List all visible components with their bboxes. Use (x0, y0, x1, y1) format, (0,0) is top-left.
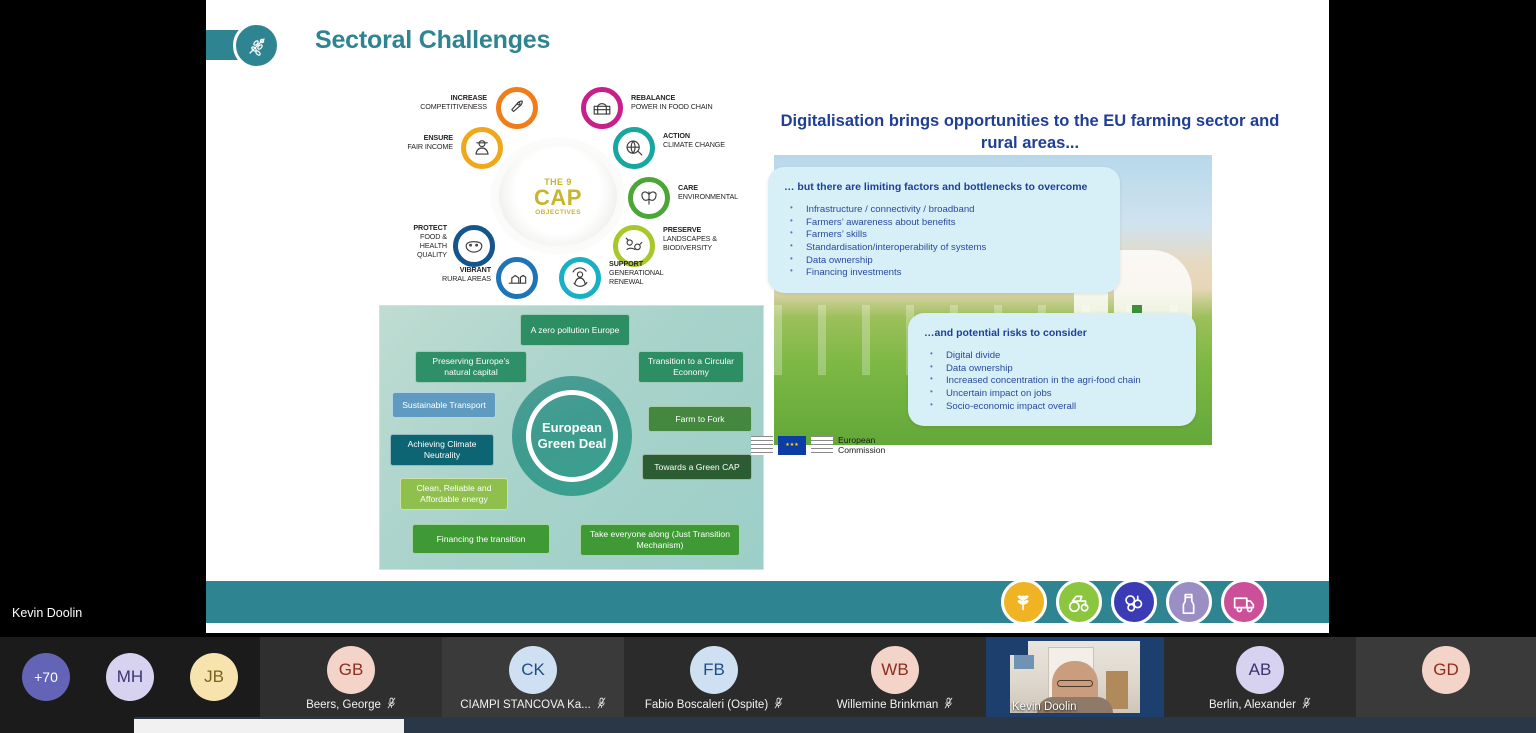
participant-strip[interactable]: +70MHJBGBBeers, GeorgeCKCIAMPI STANCOVA … (0, 637, 1536, 717)
page-title: Sectoral Challenges (315, 26, 550, 55)
participant-tile[interactable]: GD (1356, 637, 1536, 717)
green-deal-box: Clean, Reliable and Affordable energy (400, 478, 508, 510)
green-deal-box: Achieving Climate Neutrality (390, 434, 494, 466)
logo-lines-left (751, 436, 773, 455)
wheat-sheaf-icon (233, 22, 280, 69)
cap-label-bees: PRESERVELANDSCAPES & BIODIVERSITY (663, 225, 729, 252)
european-commission-logo: European Commission (751, 435, 885, 456)
cap-center-line3: OBJECTIVES (535, 209, 581, 216)
mic-muted-icon (1302, 697, 1311, 712)
ec-logo-line2: Commission (838, 445, 885, 455)
bottleneck-item: Data ownership (784, 255, 1104, 268)
meeting-stage: Sectoral Challenges THE 9 CAP OBJECTIVES… (0, 0, 1536, 637)
cap-label-village: VIBRANTRURAL AREAS (429, 265, 491, 283)
cap-center-line2: CAP (534, 187, 582, 209)
slide-header: Sectoral Challenges (206, 22, 1329, 64)
cap-label-rocket: INCREASECOMPETITIVENESS (409, 93, 487, 111)
mic-muted-icon (597, 697, 606, 712)
green-deal-box: Transition to a Circular Economy (638, 351, 744, 383)
tractor-icon (1056, 579, 1102, 625)
avatar[interactable]: +70 (22, 653, 70, 701)
dairy-icon (1166, 579, 1212, 625)
avatar[interactable]: GD (1422, 646, 1470, 694)
participant-name-row: Beers, George (260, 697, 442, 712)
cap-wheel-center: THE 9 CAP OBJECTIVES (499, 146, 617, 246)
avatar[interactable]: MH (106, 653, 154, 701)
participant-tile[interactable]: ABBerlin, Alexander (1164, 637, 1356, 717)
green-deal-box: Farm to Fork (648, 406, 752, 432)
cap-node-cow-icon (453, 225, 495, 267)
risk-item: Data ownership (924, 363, 1180, 376)
participant-video-tile[interactable]: Kevin Doolin (986, 637, 1164, 717)
participant-name: Willemine Brinkman (837, 699, 939, 711)
european-green-deal-diagram: European Green Deal A zero pollution Eur… (379, 305, 764, 570)
participant-name-row: Willemine Brinkman (804, 697, 986, 712)
logo-lines-right (811, 436, 833, 455)
callout-bottlenecks: … but there are limiting factors and bot… (768, 167, 1120, 293)
cap-label-renewal: SUPPORTGENERATIONAL RENEWAL (609, 259, 679, 286)
cap-node-renewal-icon (559, 257, 601, 299)
digitalisation-panel: Digitalisation brings opportunities to t… (768, 105, 1292, 475)
cap-label-globe: ACTIONCLIMATE CHANGE (663, 131, 729, 149)
cap-node-crate-icon (581, 87, 623, 129)
participant-tile[interactable]: FBFabio Boscaleri (Ospite) (624, 637, 804, 717)
cap-label-farmer: ENSUREFAIR INCOME (391, 133, 453, 151)
callout-bottlenecks-list: Infrastructure / connectivity / broadban… (784, 204, 1104, 280)
green-deal-box: Towards a Green CAP (642, 454, 752, 480)
eu-flag-icon (778, 436, 806, 455)
taskbar-start-area[interactable] (0, 717, 134, 733)
green-deal-box: Take everyone along (Just Transition Mec… (580, 524, 740, 556)
callout-bottlenecks-heading: … but there are limiting factors and bot… (784, 180, 1104, 194)
participant-name-row: Fabio Boscaleri (Ospite) (624, 697, 804, 712)
ec-logo-line1: European (838, 435, 885, 445)
risk-item: Socio-economic impact overall (924, 401, 1180, 414)
video-overlay-badge (988, 639, 1028, 655)
ec-logo-text: European Commission (838, 435, 885, 456)
mic-muted-icon (774, 697, 783, 712)
taskbar-window-preview[interactable] (134, 719, 404, 733)
cap-node-farmer-icon (461, 127, 503, 169)
avatar[interactable]: GB (327, 646, 375, 694)
mic-muted-icon (387, 697, 396, 712)
participant-name: Kevin Doolin (1012, 701, 1077, 713)
participant-tile[interactable]: CKCIAMPI STANCOVA Ka... (442, 637, 624, 717)
cap-label-cow: PROTECTFOOD & HEALTH QUALITY (391, 223, 447, 259)
screen: Sectoral Challenges THE 9 CAP OBJECTIVES… (0, 0, 1536, 733)
risk-item: Increased concentration in the agri-food… (924, 375, 1180, 388)
callout-risks-list: Digital divideData ownershipIncreased co… (924, 350, 1180, 413)
risk-item: Uncertain impact on jobs (924, 388, 1180, 401)
green-deal-box: A zero pollution Europe (520, 314, 630, 346)
cap-node-rocket-icon (496, 87, 538, 129)
logistics-truck-icon (1221, 579, 1267, 625)
green-deal-box: Preserving Europe’s natural capital (415, 351, 527, 383)
slide-footer (206, 581, 1329, 623)
participant-tile[interactable]: WBWillemine Brinkman (804, 637, 986, 717)
fruit-vegetables-icon (1111, 579, 1157, 625)
taskbar[interactable] (0, 717, 1536, 733)
active-speaker-name: Kevin Doolin (12, 606, 82, 620)
cap-objectives-wheel: THE 9 CAP OBJECTIVES INCREASECOMPETITIVE… (391, 85, 731, 305)
callout-risks-heading: …and potential risks to consider (924, 326, 1180, 340)
participant-tile[interactable]: GBBeers, George (260, 637, 442, 717)
participant-name: CIAMPI STANCOVA Ka... (460, 699, 591, 711)
participant-name: Fabio Boscaleri (Ospite) (645, 699, 768, 711)
avatar[interactable]: AB (1236, 646, 1284, 694)
avatar[interactable]: FB (690, 646, 738, 694)
avatar[interactable]: CK (509, 646, 557, 694)
participant-name: Berlin, Alexander (1209, 699, 1296, 711)
participant-name-row: Berlin, Alexander (1164, 697, 1356, 712)
avatar[interactable]: JB (190, 653, 238, 701)
cap-node-butterfly-icon (628, 177, 670, 219)
bottleneck-item: Farmers’ awareness about benefits (784, 217, 1104, 230)
cereals-icon (1001, 579, 1047, 625)
cap-node-globe-icon (613, 127, 655, 169)
avatar[interactable]: WB (871, 646, 919, 694)
bottleneck-item: Farmers’ skills (784, 229, 1104, 242)
green-deal-box: Financing the transition (412, 524, 550, 554)
risk-item: Digital divide (924, 350, 1180, 363)
callout-risks: …and potential risks to consider Digital… (908, 313, 1196, 426)
cap-node-village-icon (496, 257, 538, 299)
shared-slide[interactable]: Sectoral Challenges THE 9 CAP OBJECTIVES… (206, 0, 1329, 633)
green-deal-center-label: European Green Deal (526, 390, 618, 482)
cap-label-crate: REBALANCEPOWER IN FOOD CHAIN (631, 93, 723, 111)
cap-label-butterfly: CAREENVIRONMENTAL (678, 183, 734, 201)
participant-overflow-tile[interactable]: +70MHJB (0, 637, 260, 717)
bottleneck-item: Standardisation/interoperability of syst… (784, 242, 1104, 255)
mic-muted-icon (944, 697, 953, 712)
glasses-icon (1057, 680, 1093, 687)
background-picture (1014, 655, 1034, 669)
digitalisation-title: Digitalisation brings opportunities to t… (768, 110, 1292, 155)
participant-name-row: CIAMPI STANCOVA Ka... (442, 697, 624, 712)
participant-name: Beers, George (306, 699, 381, 711)
sector-icon-row (1001, 581, 1267, 623)
green-deal-center: European Green Deal (512, 376, 632, 496)
bottleneck-item: Infrastructure / connectivity / broadban… (784, 204, 1104, 217)
bottleneck-item: Financing investments (784, 267, 1104, 280)
green-deal-box: Sustainable Transport (392, 392, 496, 418)
